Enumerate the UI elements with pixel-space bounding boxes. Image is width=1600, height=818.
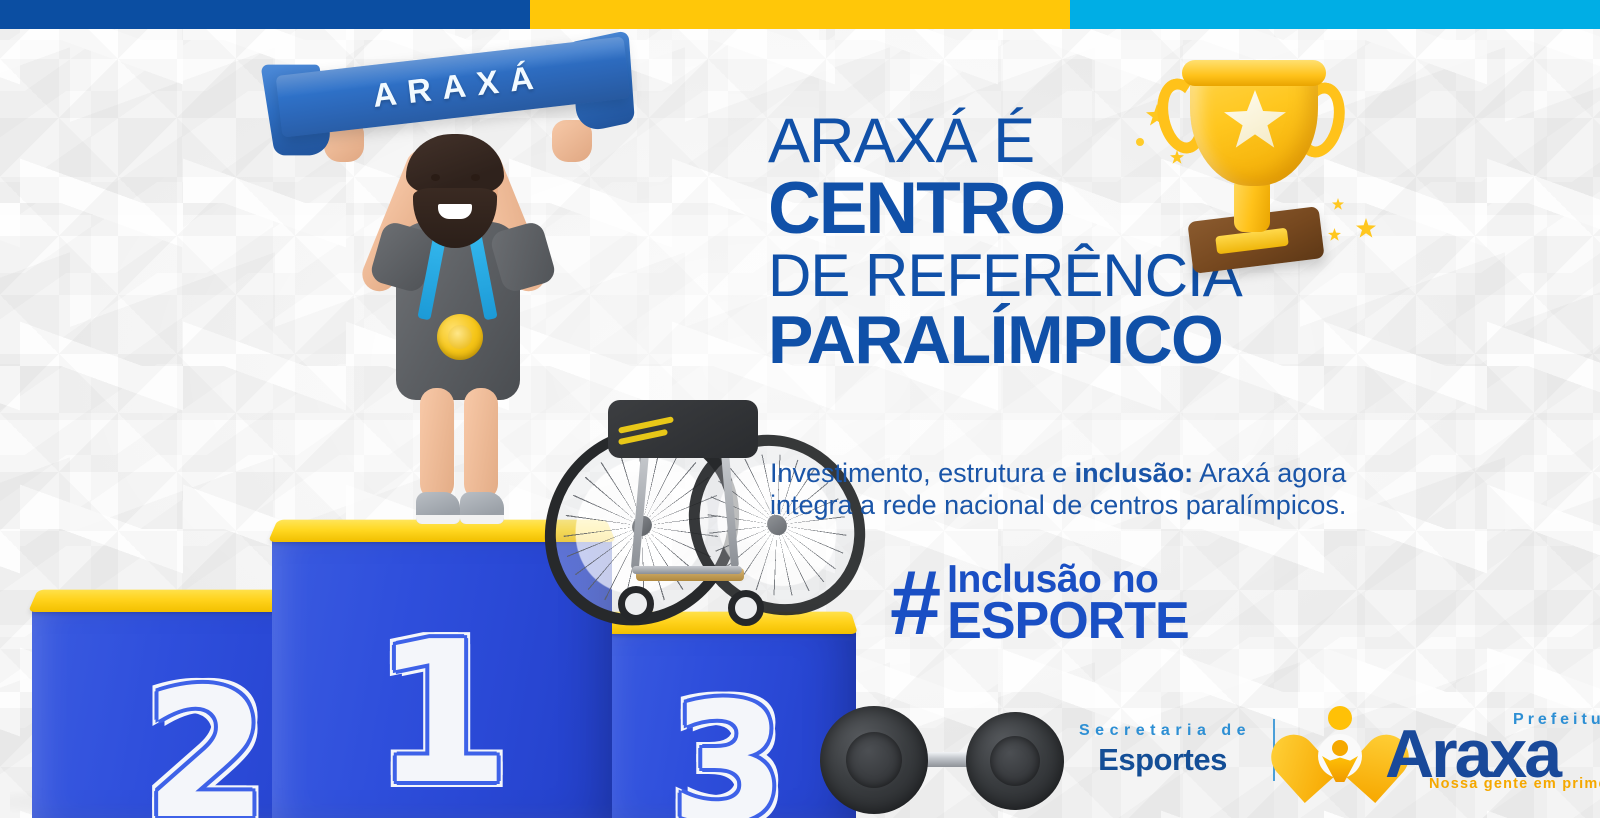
wheelchair-frame-bar xyxy=(632,566,742,574)
sparkle-star-icon xyxy=(1356,218,1376,238)
podium-number-2: 2 xyxy=(144,670,268,818)
prefeitura-wordmark: Prefeitura Araxa Nossa gente em primeiro… xyxy=(1385,712,1559,787)
wheelchair-caster-right xyxy=(728,590,764,626)
wheelchair-athlete-illustration xyxy=(300,100,620,570)
secretaria-label: Secretaria de xyxy=(1074,722,1251,740)
headline-line-4: PARALÍMPICO xyxy=(768,308,1408,373)
hashtag-words: Inclusão no ESPORTE xyxy=(947,562,1189,646)
prefeitura-tagline: Nossa gente em primeiro luga xyxy=(1429,776,1600,792)
subtitle: Investimento, estrutura e inclusão: Arax… xyxy=(770,458,1370,522)
esportes-label: Esportes xyxy=(1098,742,1227,778)
gold-medal-icon xyxy=(437,314,483,360)
hash-symbol-icon: # xyxy=(890,564,937,643)
athlete-eye-left xyxy=(431,174,440,181)
trophy-icon xyxy=(1132,52,1382,282)
podium-number-1: 1 xyxy=(374,621,510,807)
trophy-rim xyxy=(1182,60,1326,86)
athlete-leg-right xyxy=(464,388,498,500)
athlete-shoe-left xyxy=(416,492,460,524)
athlete-eye-right xyxy=(471,174,480,181)
subtitle-emphasis: inclusão: xyxy=(1075,458,1194,488)
wheelchair-caster-left xyxy=(618,586,654,622)
logo-row: Secretaria de Esportes Prefeitura Araxa … xyxy=(1074,698,1600,802)
secretaria-esportes-logo: Secretaria de Esportes xyxy=(1074,722,1273,778)
athlete-mouth xyxy=(438,204,472,219)
ribbon-band: ARAXÁ xyxy=(276,36,631,137)
promotional-banner: 2 3 1 xyxy=(0,0,1600,818)
top-bar-segment-blue xyxy=(0,0,530,29)
athlete-leg-left xyxy=(420,388,454,500)
sparkle-star-icon xyxy=(1328,228,1341,241)
top-color-bar xyxy=(0,0,1600,29)
sparkle-dot-icon xyxy=(1136,138,1144,146)
prefeitura-araxa-logo: Prefeitura Araxa Nossa gente em primeiro… xyxy=(1275,706,1559,794)
ribbon-label: ARAXÁ xyxy=(276,36,631,137)
sparkle-star-icon xyxy=(1332,198,1344,210)
athlete-shoe-right xyxy=(460,492,504,524)
athlete-legs xyxy=(418,388,502,506)
left-artwork: 2 3 1 xyxy=(0,0,880,818)
top-bar-segment-yellow xyxy=(530,0,1070,29)
hashtag-line-2: ESPORTE xyxy=(947,598,1189,646)
content-column: ARAXÁ É CENTRO DE REFERÊNCIA PARALÍMPICO… xyxy=(762,0,1600,818)
top-bar-segment-cyan xyxy=(1070,0,1600,29)
subtitle-lead: Investimento, estrutura e xyxy=(770,458,1075,488)
prefeitura-label: Prefeitura xyxy=(1513,711,1600,729)
araxa-ribbon: ARAXÁ xyxy=(268,40,638,152)
hashtag-block: # Inclusão no ESPORTE xyxy=(890,562,1189,646)
heart-icon-figure-head xyxy=(1332,740,1348,756)
heart-person-icon xyxy=(1297,706,1383,794)
